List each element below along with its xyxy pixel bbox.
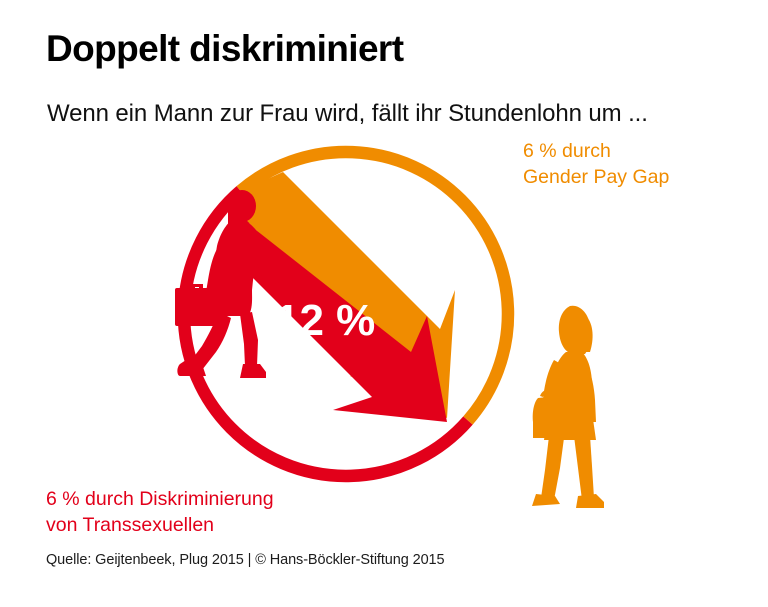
woman-with-handbag-icon xyxy=(532,306,604,508)
center-value-label: 12 % xyxy=(275,296,375,345)
source-attribution: Quelle: Geijtenbeek, Plug 2015 | © Hans-… xyxy=(46,552,444,568)
annotation-transsexual-discrimination: 6 % durch Diskriminierung von Transsexue… xyxy=(46,487,274,539)
page-title: Doppelt diskriminiert xyxy=(46,30,403,69)
infographic-page: Doppelt diskriminiert Wenn ein Mann zur … xyxy=(0,0,768,607)
annotation-gender-pay-gap: 6 % durch Gender Pay Gap xyxy=(523,139,669,191)
annotation-gender-pay-gap-line1: 6 % durch xyxy=(523,139,669,165)
annotation-transsexual-discrimination-line2: von Transsexuellen xyxy=(46,513,274,539)
annotation-transsexual-discrimination-line1: 6 % durch Diskriminierung xyxy=(46,487,274,513)
annotation-gender-pay-gap-line2: Gender Pay Gap xyxy=(523,165,669,191)
